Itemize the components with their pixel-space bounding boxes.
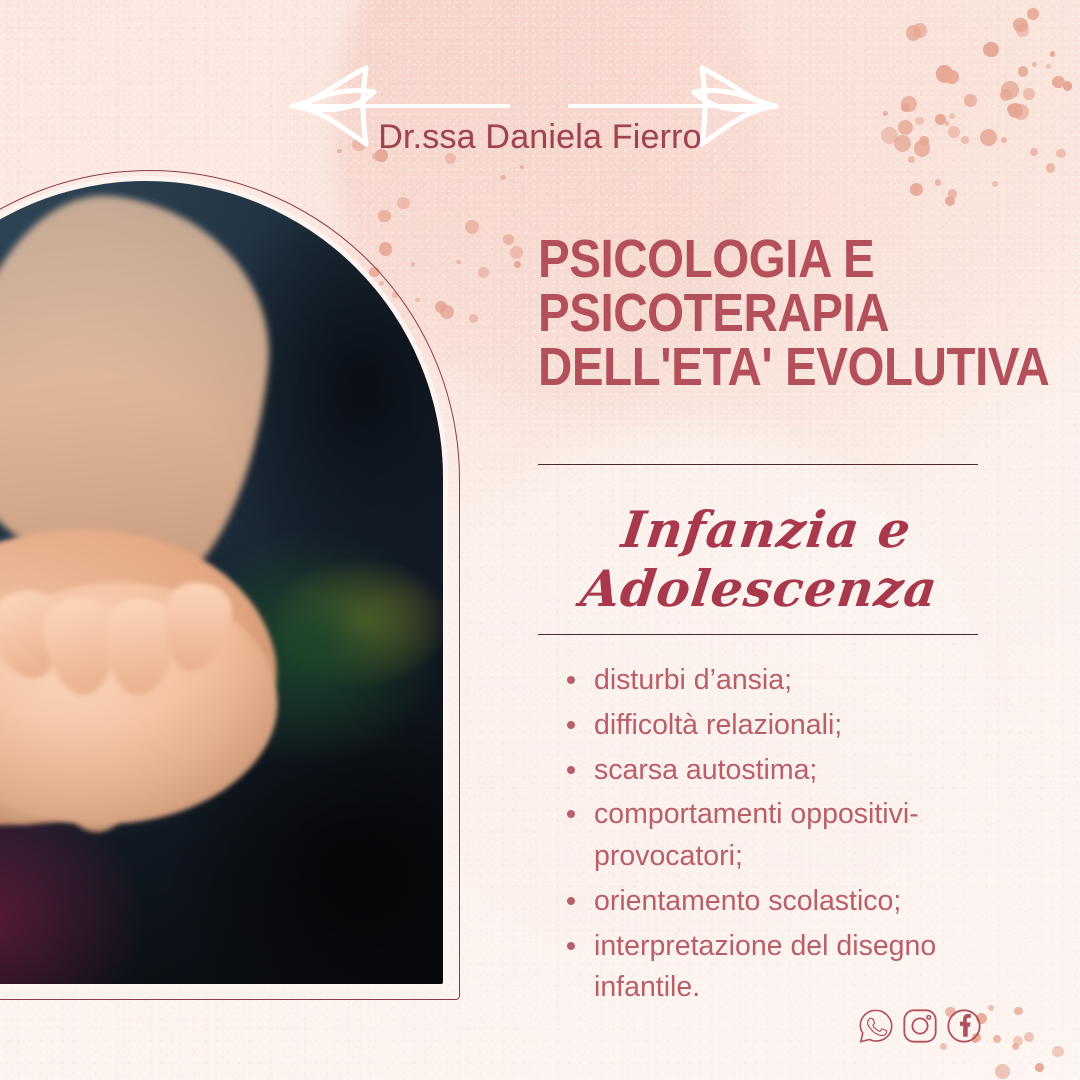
list-item: orientamento scolastico; bbox=[560, 881, 1010, 923]
social-links bbox=[857, 1007, 983, 1045]
title-line-1: PSICOLOGIA E bbox=[538, 232, 952, 286]
divider-below-subtitle bbox=[538, 634, 978, 635]
list-item: comportamenti oppositivi-provocatori; bbox=[560, 794, 1010, 878]
doctor-name: Dr.ssa Daniela Fierro bbox=[0, 118, 1080, 157]
photo-frame bbox=[0, 170, 460, 1000]
list-item: difficoltà relazionali; bbox=[560, 705, 1010, 747]
list-item: disturbi d’ansia; bbox=[560, 660, 1010, 702]
page-title: PSICOLOGIA E PSICOTERAPIA DELL'ETA' EVOL… bbox=[538, 232, 952, 394]
header-banner: Dr.ssa Daniela Fierro bbox=[0, 56, 1080, 156]
whatsapp-icon[interactable] bbox=[857, 1007, 895, 1045]
divider-above-subtitle bbox=[538, 464, 978, 465]
facebook-icon[interactable] bbox=[945, 1007, 983, 1045]
title-line-2: PSICOTERAPIA bbox=[538, 286, 952, 340]
list-item: interpretazione del disegno infantile. bbox=[560, 926, 1010, 1010]
subtitle: Infanzia e Adolescenza bbox=[531, 500, 995, 618]
poster-canvas: Dr.ssa Daniela Fierro PSICOLOGIA E bbox=[0, 0, 1080, 1080]
instagram-icon[interactable] bbox=[901, 1007, 939, 1045]
list-item: scarsa autostima; bbox=[560, 750, 1010, 792]
hands-photo bbox=[0, 181, 443, 984]
services-list: disturbi d’ansia; difficoltà relazionali… bbox=[560, 660, 1010, 1012]
title-line-3: DELL'ETA' EVOLUTIVA bbox=[538, 340, 952, 394]
